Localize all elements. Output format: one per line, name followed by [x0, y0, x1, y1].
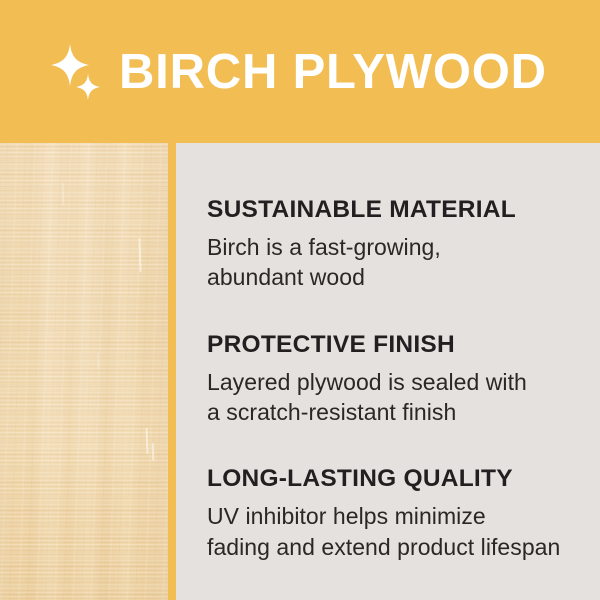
feature-body-line: Layered plywood is sealed with — [207, 367, 592, 397]
feature-heading: SUSTAINABLE MATERIAL — [207, 196, 592, 225]
sparkle-icon — [44, 42, 110, 108]
feature-body: UV inhibitor helps minimize fading and e… — [207, 501, 592, 562]
wood-shading-overlay — [0, 143, 168, 600]
vertical-divider-stripe — [168, 143, 176, 600]
feature-body-line: Birch is a fast-growing, — [207, 232, 592, 262]
feature-item-long-lasting-quality: LONG-LASTING QUALITY UV inhibitor helps … — [207, 465, 592, 562]
birch-wood-swatch-panel — [0, 143, 168, 600]
feature-heading: PROTECTIVE FINISH — [207, 331, 592, 360]
feature-body: Layered plywood is sealed with a scratch… — [207, 367, 592, 428]
feature-body-line: UV inhibitor helps minimize — [207, 501, 592, 531]
page-title: BIRCH PLYWOOD — [119, 41, 547, 103]
feature-item-protective-finish: PROTECTIVE FINISH Layered plywood is sea… — [207, 331, 592, 428]
feature-body-line: fading and extend product lifespan — [207, 532, 592, 562]
feature-list: SUSTAINABLE MATERIAL Birch is a fast-gro… — [207, 196, 592, 562]
feature-body-line: a scratch-resistant finish — [207, 397, 592, 427]
product-feature-infographic: BIRCH PLYWOOD SUSTAINABLE MATERIAL Birch… — [0, 0, 600, 600]
feature-body: Birch is a fast-growing, abundant wood — [207, 232, 592, 293]
feature-body-line: abundant wood — [207, 262, 592, 292]
feature-heading: LONG-LASTING QUALITY — [207, 465, 592, 494]
feature-item-sustainable-material: SUSTAINABLE MATERIAL Birch is a fast-gro… — [207, 196, 592, 293]
